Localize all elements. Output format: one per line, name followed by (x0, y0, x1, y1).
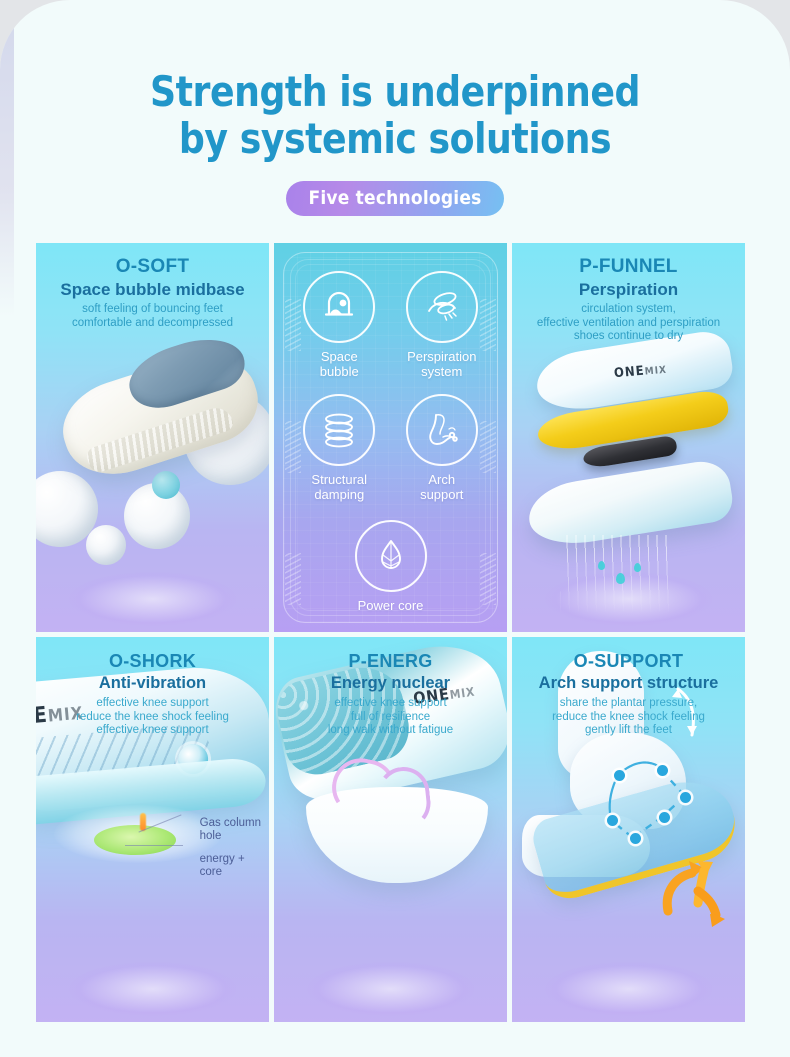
panel-desc-line1: effective knee support (36, 697, 269, 711)
brand-mix: MIX (644, 365, 667, 378)
tech-item-power-core[interactable]: Power core (288, 520, 493, 613)
airflow-droplet (598, 561, 605, 570)
tech-label-line1: Arch (391, 472, 494, 487)
panel-desc-line2: reduce the knee shock feeling (512, 711, 745, 725)
panel-name: Perspiration (512, 279, 745, 300)
panel-p-funnel[interactable]: P-FUNNEL Perspiration circulation system… (512, 243, 745, 632)
annotation-leader-line (125, 845, 183, 846)
tech-item-arch-support[interactable]: Arch support (391, 394, 494, 502)
tech-label-line1: Space (288, 349, 391, 364)
panel-name: Space bubble midbase (36, 279, 269, 300)
panel-o-shork[interactable]: O-SHORK Anti-vibration effective knee su… (36, 637, 269, 1022)
annotation-2-line1: energy + (200, 853, 261, 866)
space-bubble-icon (303, 271, 375, 343)
power-core-icon (355, 520, 427, 592)
airflow-lines (560, 535, 670, 613)
panel-desc-line3: long walk without fatigue (274, 724, 507, 738)
page-header: Strength is underpinned by systemic solu… (0, 0, 790, 216)
force-node (659, 812, 670, 823)
bubble-teal-accent (152, 471, 180, 499)
annotation-1-line1: Gas column (200, 817, 261, 830)
orange-force-arrows (640, 855, 732, 935)
bubble-small-bottom (86, 525, 126, 565)
force-node (607, 815, 618, 826)
panel-desc-line3: shoes continue to dry (512, 330, 745, 344)
annotation-group: Gas column hole energy + core (200, 817, 261, 878)
brand-one: ONE (613, 364, 645, 382)
panel-code: O-SOFT (36, 256, 269, 278)
panel-desc-line1: effective knee support (274, 697, 507, 711)
tech-label-line1: Structural (288, 472, 391, 487)
annotation-1-line2: hole (200, 830, 261, 843)
tech-label-line2: damping (288, 487, 391, 502)
panel-code: P-FUNNEL (512, 256, 745, 278)
panel-code: P-ENERG (274, 650, 507, 672)
panel-desc-line1: share the plantar pressure, (512, 697, 745, 711)
five-technologies-badge: Five technologies (286, 181, 503, 216)
panel-desc-line3: gently lift the feet (512, 724, 745, 738)
panel-desc-line1: soft feeling of bouncing feet (36, 303, 269, 317)
panel-desc-line2: comfortable and decompressed (36, 317, 269, 331)
airflow-droplet (616, 573, 625, 584)
brand-logo-text: ONEMIX (613, 362, 667, 382)
tech-label-line2: support (391, 487, 494, 502)
arch-support-icon (406, 394, 478, 466)
structural-damping-icon (303, 394, 375, 466)
panel-p-energ[interactable]: P-ENERG Energy nuclear effective knee su… (274, 637, 507, 1022)
force-node (657, 765, 668, 776)
badge-row: Five technologies (0, 181, 790, 216)
panel-desc-line1: circulation system, (512, 303, 745, 317)
panel-o-shork-header: O-SHORK Anti-vibration effective knee su… (36, 637, 269, 738)
force-node (680, 792, 691, 803)
panel-name: Arch support structure (512, 673, 745, 694)
panel-p-energ-header: P-ENERG Energy nuclear effective knee su… (274, 637, 507, 738)
perspiration-system-icon (406, 271, 478, 343)
panel-name: Energy nuclear (274, 673, 507, 694)
force-node (614, 770, 625, 781)
force-node (630, 833, 641, 844)
page-title-line2: by systemic solutions (16, 115, 774, 162)
panel-p-funnel-header: P-FUNNEL Perspiration circulation system… (512, 243, 745, 344)
panel-o-soft-header: O-SOFT Space bubble midbase soft feeling… (36, 243, 269, 330)
tech-item-structural-damping[interactable]: Structural damping (288, 394, 391, 502)
panel-name: Anti-vibration (36, 673, 269, 694)
panel-code: O-SUPPORT (512, 650, 745, 672)
tech-label-line2: bubble (288, 364, 391, 379)
panel-o-support-header: O-SUPPORT Arch support structure share t… (512, 637, 745, 738)
panel-code: O-SHORK (36, 650, 269, 672)
tech-label-line2: system (391, 364, 494, 379)
page-title-line1: Strength is underpinned (16, 68, 774, 115)
technology-grid: O-SOFT Space bubble midbase soft feeling… (36, 243, 754, 1023)
panel-desc-line2: full of resilience (274, 711, 507, 725)
promo-page: Strength is underpinned by systemic solu… (0, 0, 790, 1057)
tech-label-line1: Power core (288, 598, 493, 613)
tech-item-perspiration-system[interactable]: Perspiration system (391, 271, 494, 379)
panel-o-support[interactable]: O-SUPPORT Arch support structure share t… (512, 637, 745, 1022)
panel-desc-line3: effective knee support (36, 724, 269, 738)
panel-five-technologies[interactable]: Space bubble Perspiration system (274, 243, 507, 632)
tech-label-line1: Perspiration (391, 349, 494, 364)
airflow-droplet (634, 563, 641, 572)
panel-o-soft[interactable]: O-SOFT Space bubble midbase soft feeling… (36, 243, 269, 632)
tech-icon-grid: Space bubble Perspiration system (274, 243, 507, 632)
annotation-2-line2: core (200, 866, 261, 879)
panel-desc-line2: reduce the knee shock feeling (36, 711, 269, 725)
tech-item-space-bubble[interactable]: Space bubble (288, 271, 391, 379)
page-title: Strength is underpinned by systemic solu… (16, 68, 774, 162)
panel-desc-line2: effective ventilation and perspiration (512, 317, 745, 331)
energy-core-green (94, 825, 176, 855)
